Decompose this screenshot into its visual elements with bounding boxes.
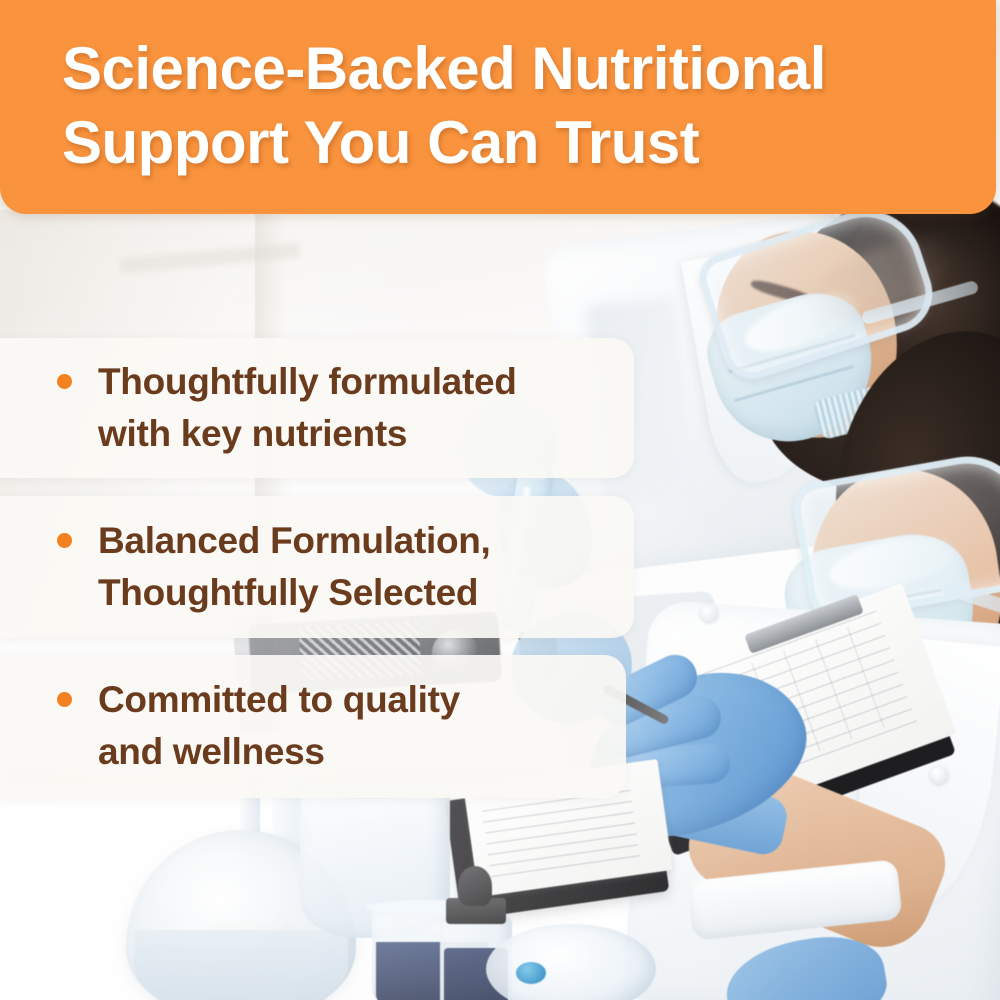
lab-coat-button [930, 766, 948, 784]
bullet-dot-icon [57, 692, 72, 707]
bullet-dot-icon [57, 533, 72, 548]
benefit-text-3: Committed to quality and wellness [98, 674, 460, 778]
page-title: Science-Backed Nutritional Support You C… [62, 32, 962, 180]
dropper-bottle-bulb [458, 866, 492, 906]
benefit-text-1: Thoughtfully formulated with key nutrien… [98, 356, 517, 460]
header-banner: Science-Backed Nutritional Support You C… [0, 0, 996, 214]
lab-coat-button [700, 604, 718, 622]
petri-dish-blue-droplet [516, 962, 546, 984]
benefit-card-2: Balanced Formulation, Thoughtfully Selec… [0, 496, 634, 638]
promotional-poster: Science-Backed Nutritional Support You C… [0, 0, 1000, 1000]
benefit-text-2: Balanced Formulation, Thoughtfully Selec… [98, 515, 491, 619]
benefit-card-3: Committed to quality and wellness [0, 655, 626, 798]
flask-liquid [134, 930, 348, 1000]
bullet-dot-icon [57, 374, 72, 389]
benefit-card-1: Thoughtfully formulated with key nutrien… [0, 338, 634, 478]
